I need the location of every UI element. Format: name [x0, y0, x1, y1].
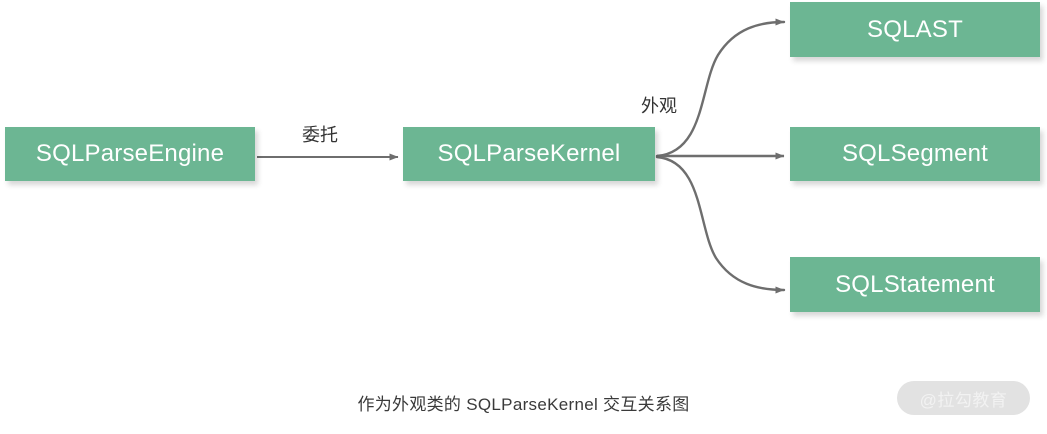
diagram-canvas: SQLParseEngine SQLParseKernel SQLAST SQL… [0, 0, 1047, 434]
node-label: SQLAST [867, 16, 963, 44]
edge-kernel-to-statement [657, 157, 784, 290]
node-sqlparsekernel[interactable]: SQLParseKernel [403, 127, 655, 181]
node-sqlsegment[interactable]: SQLSegment [790, 127, 1040, 181]
edge-kernel-to-ast [657, 22, 784, 156]
edge-label-facade: 外观 [641, 92, 677, 118]
edge-label-delegate: 委托 [302, 121, 338, 147]
node-label: SQLParseKernel [438, 140, 621, 168]
node-label: SQLParseEngine [36, 140, 224, 168]
watermark-badge: @拉勾教育 [897, 381, 1030, 415]
node-sqlparseengine[interactable]: SQLParseEngine [5, 127, 255, 181]
node-label: SQLSegment [842, 140, 988, 168]
node-label: SQLStatement [835, 271, 995, 299]
node-sqlstatement[interactable]: SQLStatement [790, 257, 1040, 312]
node-sqlast[interactable]: SQLAST [790, 2, 1040, 57]
edge-layer [0, 0, 1047, 434]
diagram-caption: 作为外观类的 SQLParseKernel 交互关系图 [0, 390, 1047, 415]
